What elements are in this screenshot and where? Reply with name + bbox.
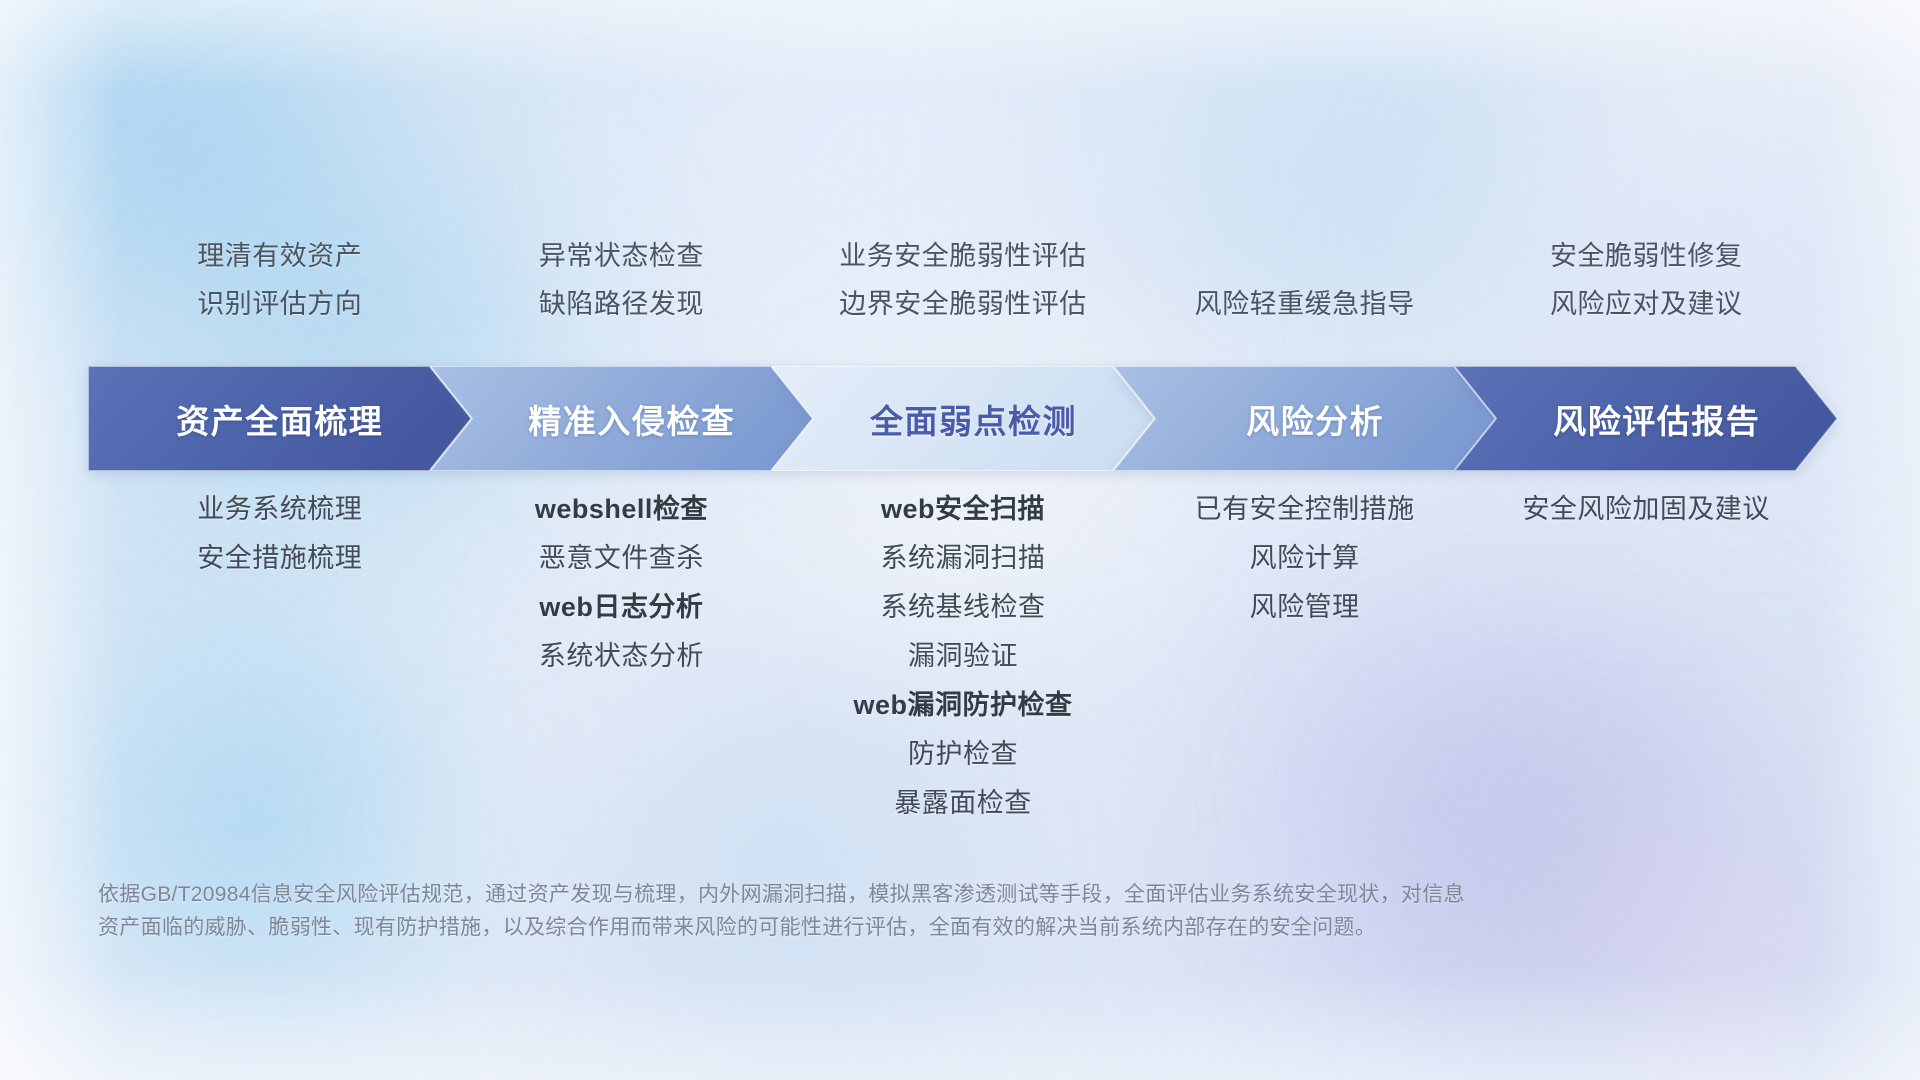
stage-arrow-band: 资产全面梳理精准入侵检查全面弱点检测风险分析风险评估报告 — [0, 366, 1920, 471]
stage-title-asset-inventory: 资产全面梳理 — [88, 395, 472, 443]
bottom-activities-assessment-report: 安全风险加固及建议 — [1426, 485, 1866, 534]
activity-item: 防护检查 — [743, 730, 1183, 779]
top-outcomes-assessment-report: 安全脆弱性修复风险应对及建议 — [1436, 232, 1856, 332]
top-outcome-item: 业务安全脆弱性评估 — [753, 232, 1173, 280]
stage-title-risk-analysis: 风险分析 — [1113, 395, 1497, 443]
stage-arrow-asset-inventory[interactable]: 资产全面梳理 — [88, 366, 472, 471]
top-outcome-item: 风险应对及建议 — [1436, 280, 1856, 328]
activity-item: 暴露面检查 — [743, 779, 1183, 828]
stage-arrow-intrusion-check[interactable]: 精准入侵检查 — [430, 366, 814, 471]
activity-item: 安全风险加固及建议 — [1426, 485, 1866, 534]
footer-line-2: 资产面临的威胁、脆弱性、现有防护措施，以及综合作用而带来风险的可能性进行评估，全… — [98, 911, 1638, 944]
activity-item: 风险计算 — [1085, 534, 1525, 583]
process-diagram: 理清有效资产识别评估方向异常状态检查缺陷路径发现业务安全脆弱性评估边界安全脆弱性… — [0, 0, 1920, 1080]
activity-item: 风险管理 — [1085, 583, 1525, 632]
activity-item: web漏洞防护检查 — [743, 681, 1183, 730]
stage-arrow-weakness-detection[interactable]: 全面弱点检测 — [771, 366, 1155, 471]
footer-line-1: 依据GB/T20984信息安全风险评估规范，通过资产发现与梳理，内外网漏洞扫描，… — [98, 878, 1638, 911]
stage-title-weakness-detection: 全面弱点检测 — [771, 395, 1155, 443]
stage-arrow-risk-analysis[interactable]: 风险分析 — [1113, 366, 1497, 471]
stage-title-assessment-report: 风险评估报告 — [1454, 395, 1838, 443]
top-outcome-item: 安全脆弱性修复 — [1436, 232, 1856, 280]
description-footer: 依据GB/T20984信息安全风险评估规范，通过资产发现与梳理，内外网漏洞扫描，… — [98, 878, 1638, 944]
top-outcomes-row: 理清有效资产识别评估方向异常状态检查缺陷路径发现业务安全脆弱性评估边界安全脆弱性… — [0, 232, 1920, 332]
stage-title-intrusion-check: 精准入侵检查 — [430, 395, 814, 443]
stage-arrow-assessment-report[interactable]: 风险评估报告 — [1454, 366, 1838, 471]
activity-item: 漏洞验证 — [743, 632, 1183, 681]
